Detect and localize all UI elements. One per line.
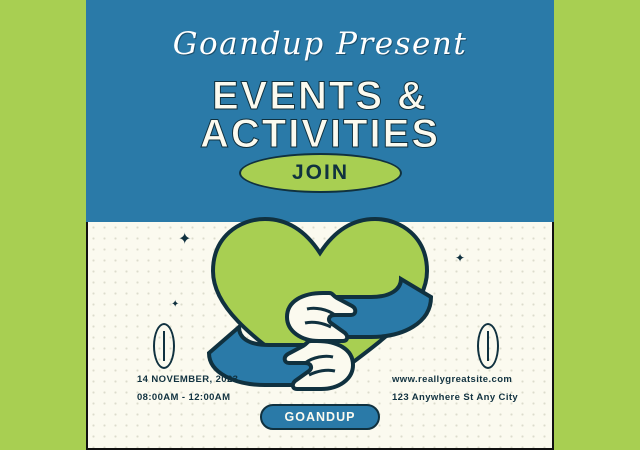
- script-presenter-title: Goandup Present: [86, 26, 554, 62]
- event-address: 123 Anywhere St Any City: [392, 392, 518, 403]
- event-time: 08:00AM - 12:00AM: [137, 392, 230, 403]
- leaf-ornament-right: [477, 323, 499, 369]
- join-button-label: JOIN: [292, 161, 349, 185]
- brand-badge-label: GOANDUP: [285, 410, 356, 424]
- brand-badge[interactable]: GOANDUP: [260, 404, 380, 430]
- event-date: 14 NOVEMBER, 2023: [137, 374, 238, 385]
- left-hand: [285, 341, 353, 389]
- right-hand: [287, 293, 355, 341]
- sparkle-icon: ✦: [455, 252, 465, 264]
- heart-hug-illustration: [195, 205, 445, 395]
- website-url[interactable]: www.reallygreatsite.com: [392, 374, 512, 385]
- sparkle-icon: ✦: [178, 232, 191, 248]
- poster-canvas: Goandup Present EVENTS & ACTIVITIES JOIN…: [0, 0, 640, 450]
- sparkle-icon: ✦: [171, 300, 179, 310]
- leaf-ornament-left: [153, 323, 175, 369]
- heart-hug-svg: [195, 205, 445, 395]
- join-button[interactable]: JOIN: [239, 153, 402, 193]
- headline-line-2: ACTIVITIES: [86, 112, 554, 156]
